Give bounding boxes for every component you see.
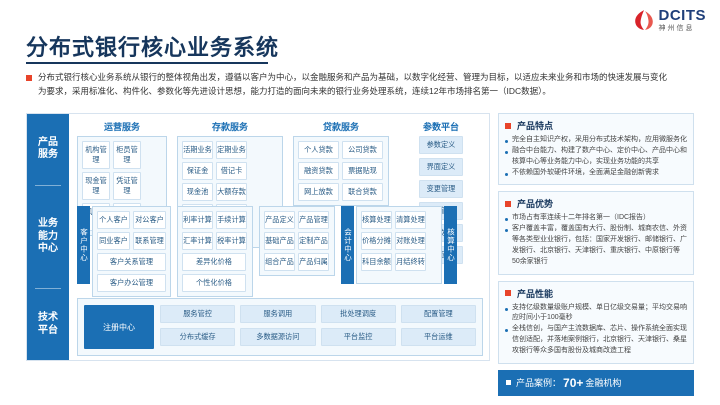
case-suffix: 金融机构 (585, 376, 621, 389)
chip-grid-customer: 个人客户 对公客户 同业客户 联系管理 客户关系管理 客户办公管理 (97, 211, 166, 292)
chip-param[interactable]: 变更管理 (419, 180, 463, 198)
chip-loan[interactable]: 公司贷款 (342, 141, 383, 159)
brand-sub: 神州信息 (659, 25, 707, 32)
chip-product[interactable]: 定制产品 (298, 232, 329, 250)
list-item: 客户覆盖丰富，覆盖国有大行、股份制、城商农信、外资等各类型业业银行，包括：国家开… (505, 224, 687, 267)
chip-customer[interactable]: 对公客户 (133, 211, 166, 229)
list-item: 全栈信创，与国产主流数据库、芯片、操作系统全面实现信创适配，并落地案例银行，北京… (505, 324, 687, 357)
card-title-features: 产品特点 (517, 119, 553, 132)
chip-platform[interactable]: 批处理调度 (321, 305, 396, 323)
section-pricing: 利率计算 手续计算 汇率计算 税率计算 差异化价格 个性化价格 (177, 206, 253, 297)
intro-line-2: 为要求，采用标准化、构件化、参数化等先进设计思想，能力打造的面向未来的银行业务处… (38, 84, 692, 98)
layer-rail: 产品服务 业务能力中心 技术平台 (27, 114, 69, 360)
strip-settlement-center: 核算中心 (444, 206, 457, 284)
chip-platform[interactable]: 分布式缓存 (160, 328, 235, 346)
section-platform: 注册中心 服务管控 服务调用 批处理调度 配置管理 分布式缓存 多数据源访问 平… (77, 298, 483, 356)
chip-product[interactable]: 产品定义 (264, 211, 295, 229)
chip-loan[interactable]: 个人贷款 (298, 141, 339, 159)
chip-product[interactable]: 产品归属 (298, 253, 329, 271)
list-item: 支持亿级数量级账户规模、单日亿级交易量；平均交易响应时间小于100毫秒 (505, 303, 687, 325)
chip-accounting[interactable]: 清算处理 (395, 211, 426, 229)
rail-item-product[interactable]: 产品服务 (27, 114, 69, 185)
rail-item-capability[interactable]: 业务能力中心 (27, 186, 69, 289)
chip-accounting[interactable]: 价格分摊 (361, 232, 392, 250)
intro-block: 分布式银行核心业务系统从银行的整体视角出发，遵循以客户为中心，以金融服务和产品为… (26, 70, 692, 99)
chip-deposit[interactable]: 借记卡 (216, 162, 247, 180)
page-title: 分布式银行核心业务系统 (26, 30, 279, 62)
chip-deposit[interactable]: 大额存款 (216, 183, 247, 201)
chip-customer[interactable]: 客户关系管理 (97, 253, 166, 271)
chip-grid-pricing: 利率计算 手续计算 汇率计算 税率计算 差异化价格 个性化价格 (182, 211, 248, 292)
brand-logo: DCITS 神州信息 (633, 8, 707, 32)
chip-accounting[interactable]: 月结终转 (395, 253, 426, 271)
bullet-icon (505, 123, 511, 129)
chip-customer[interactable]: 联系管理 (133, 232, 166, 250)
chip-loan[interactable]: 联合贷款 (342, 183, 383, 201)
list-item: 不依赖国外软硬件环境，全面满足金融创新需求 (505, 168, 687, 179)
chip-deposit[interactable]: 保证金 (182, 162, 213, 180)
chip-product[interactable]: 组合产品 (264, 253, 295, 271)
card-features: 产品特点 完全自主知识产权，采用分布式技术架构，应用微服务化 融合中台能力、构建… (498, 113, 694, 185)
bullet-icon (26, 75, 32, 81)
chip-grid-accounting: 核算处理 清算处理 价格分摊 对账处理 科目余额 月结终转 (361, 211, 437, 271)
architecture-diagram: 产品服务 业务能力中心 技术平台 运营服务 机构管理 柜员管理 现金管理 凭证管… (26, 113, 490, 361)
chip-platform[interactable]: 配置管理 (401, 305, 476, 323)
dcits-logo-icon (633, 9, 655, 31)
chip-platform[interactable]: 多数据源访问 (240, 328, 315, 346)
chip-accounting[interactable]: 科目余额 (361, 253, 392, 271)
chip-pricing[interactable]: 汇率计算 (182, 232, 213, 250)
chip-loan[interactable]: 融资贷款 (298, 162, 339, 180)
section-accounting: 会计中心 核算处理 清算处理 价格分摊 对账处理 科目余额 月结终转 核算中心 (341, 206, 483, 284)
list-item: 融合中台能力、构建了数产中心、定价中心、产品中心和核算中心等业务能力中心，实现业… (505, 146, 687, 168)
rail-item-platform[interactable]: 技术平台 (27, 289, 69, 360)
case-prefix: 产品案例： (516, 376, 561, 389)
chip-deposit[interactable]: 现金池 (182, 183, 213, 201)
chip-loan[interactable]: 票据贴现 (342, 162, 383, 180)
section-loan: 贷款服务 个人贷款 公司贷款 融资贷款 票据贴现 网上放款 联合贷款 (293, 120, 389, 206)
chip-platform-registry[interactable]: 注册中心 (84, 305, 154, 349)
chip-pricing[interactable]: 税率计算 (216, 232, 247, 250)
chip-customer[interactable]: 同业客户 (97, 232, 130, 250)
chip-operation[interactable]: 现金管理 (82, 172, 110, 200)
intro-line-1: 分布式银行核心业务系统从银行的整体视角出发，遵循以客户为中心，以金融服务和产品为… (38, 70, 667, 84)
chip-product[interactable]: 基础产品 (264, 232, 295, 250)
chip-customer[interactable]: 个人客户 (97, 211, 130, 229)
chip-pricing[interactable]: 手续计算 (216, 211, 247, 229)
card-title-performance: 产品性能 (517, 287, 553, 300)
chip-platform[interactable]: 平台监控 (321, 328, 396, 346)
chip-grid-product: 产品定义 产品管理 基础产品 定制产品 组合产品 产品归属 (264, 211, 330, 271)
section-title-deposit: 存款服务 (177, 120, 283, 133)
chip-pricing[interactable]: 利率计算 (182, 211, 213, 229)
card-advantage: 产品优势 市场占有率连续十二年排名第一（IDC报告） 客户覆盖丰富，覆盖国有大行… (498, 191, 694, 274)
chip-customer[interactable]: 客户办公管理 (97, 274, 166, 292)
section-customer: 客户中心 个人客户 对公客户 同业客户 联系管理 客户关系管理 客户办公管理 (77, 206, 169, 297)
chip-pricing[interactable]: 个性化价格 (182, 274, 246, 292)
chip-product[interactable]: 产品管理 (298, 211, 329, 229)
bullet-icon (505, 201, 511, 207)
card-title-advantage: 产品优势 (517, 197, 553, 210)
chip-operation[interactable]: 柜员管理 (113, 141, 141, 169)
strip-customer-center: 客户中心 (77, 206, 90, 284)
strip-accounting-center: 会计中心 (341, 206, 354, 284)
case-number: 70+ (563, 376, 583, 390)
section-title-loan: 贷款服务 (293, 120, 389, 133)
chip-platform[interactable]: 平台运维 (401, 328, 476, 346)
case-banner: 产品案例： 70+ 金融机构 (498, 370, 694, 396)
chip-platform[interactable]: 服务调用 (240, 305, 315, 323)
info-column: 产品特点 完全自主知识产权，采用分布式技术架构，应用微服务化 融合中台能力、构建… (498, 113, 694, 396)
chip-operation[interactable]: 机构管理 (82, 141, 110, 169)
chip-grid-loan: 个人贷款 公司贷款 融资贷款 票据贴现 网上放款 联合贷款 (298, 141, 384, 201)
chip-pricing[interactable]: 差异化价格 (182, 253, 246, 271)
section-product: 产品定义 产品管理 基础产品 定制产品 组合产品 产品归属 (259, 206, 335, 276)
chip-platform[interactable]: 服务管控 (160, 305, 235, 323)
list-item: 完全自主知识产权，采用分布式技术架构，应用微服务化 (505, 135, 687, 146)
chip-accounting[interactable]: 核算处理 (361, 211, 392, 229)
chip-param[interactable]: 参数定义 (419, 136, 463, 154)
chip-loan[interactable]: 网上放款 (298, 183, 339, 201)
chip-accounting[interactable]: 对账处理 (395, 232, 426, 250)
card-performance: 产品性能 支持亿级数量级账户规模、单日亿级交易量；平均交易响应时间小于100毫秒… (498, 281, 694, 364)
chip-deposit[interactable]: 活期业务 (182, 141, 213, 159)
title-underline (26, 62, 268, 64)
section-title-param: 参数平台 (399, 120, 483, 133)
list-item: 市场占有率连续十二年排名第一（IDC报告） (505, 213, 687, 224)
chip-param[interactable]: 界面定义 (419, 158, 463, 176)
chip-operation[interactable]: 凭证管理 (113, 172, 141, 200)
brand-name: DCITS (659, 8, 707, 23)
section-title-operation: 运营服务 (77, 120, 167, 133)
square-icon (506, 380, 511, 385)
chip-deposit[interactable]: 定期业务 (216, 141, 247, 159)
bullet-icon (505, 290, 511, 296)
